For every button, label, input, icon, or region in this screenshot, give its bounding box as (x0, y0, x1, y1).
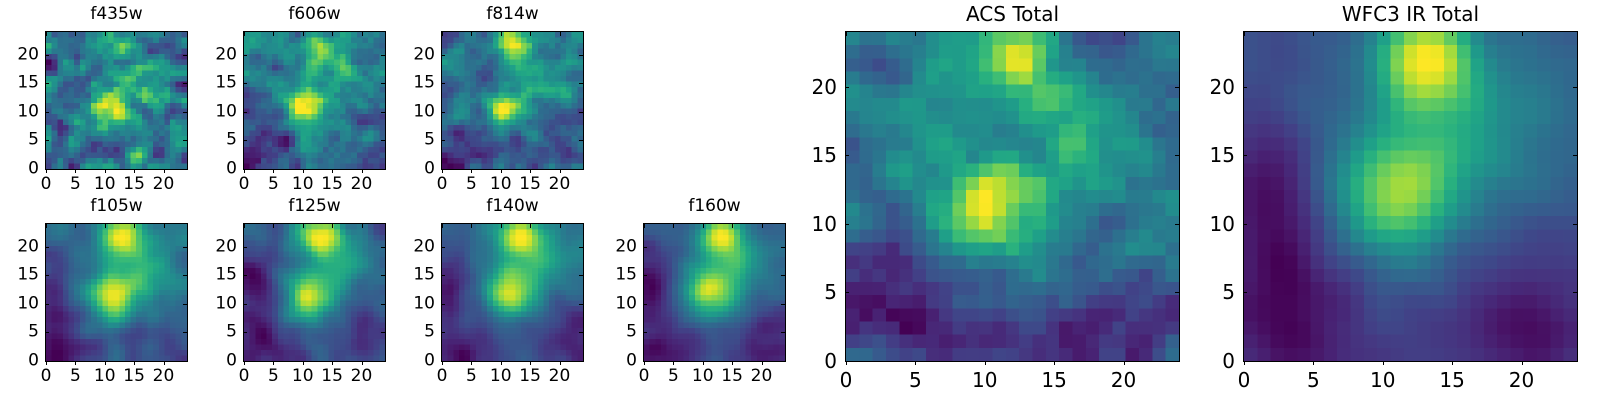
y-tick-mark (45, 361, 49, 362)
heatmap-image (442, 224, 583, 361)
x-tick-mark (362, 361, 363, 365)
y-tick-label: 5 (1, 132, 39, 149)
y-tick-label: 20 (793, 77, 837, 97)
x-tick-label: 20 (153, 368, 175, 385)
x-tick-label: 10 (490, 176, 512, 193)
x-tick-mark (46, 169, 47, 173)
y-tick-mark-right (183, 55, 187, 56)
x-tick-mark-top (164, 224, 165, 228)
heatmap-image (244, 224, 385, 361)
y-tick-mark (845, 155, 849, 156)
y-tick-mark (45, 332, 49, 333)
x-tick-label: 10 (490, 368, 512, 385)
x-tick-mark (134, 169, 135, 173)
x-tick-mark (1054, 361, 1055, 365)
y-tick-mark-right (1573, 87, 1577, 88)
y-tick-label: 0 (599, 353, 637, 370)
y-tick-label: 20 (199, 238, 237, 255)
panel-f606w: f606w0510152005101520 (0, 0, 1600, 400)
x-tick-mark-top (303, 224, 304, 228)
y-tick-mark (643, 247, 647, 248)
y-tick-mark (441, 304, 445, 305)
x-tick-mark-top (303, 32, 304, 36)
x-tick-mark-top (1313, 32, 1314, 36)
y-tick-mark (643, 361, 647, 362)
y-tick-label: 10 (599, 295, 637, 312)
x-tick-label: 5 (268, 176, 279, 193)
y-tick-mark-right (381, 304, 385, 305)
y-tick-mark (441, 55, 445, 56)
y-tick-label: 5 (199, 132, 237, 149)
x-tick-mark-top (762, 224, 763, 228)
y-tick-label: 5 (199, 324, 237, 341)
x-tick-mark-top (273, 224, 274, 228)
x-tick-label: 15 (519, 176, 541, 193)
y-tick-mark-right (579, 169, 583, 170)
panel-title: f606w (243, 6, 386, 23)
x-tick-mark-top (1452, 32, 1453, 36)
x-tick-label: 5 (466, 176, 477, 193)
y-tick-label: 0 (1, 161, 39, 178)
x-tick-mark (762, 361, 763, 365)
y-tick-label: 0 (793, 351, 837, 371)
y-tick-label: 0 (1191, 351, 1235, 371)
y-tick-label: 20 (397, 46, 435, 63)
heatmap-axes (243, 223, 386, 362)
heatmap-image (846, 32, 1179, 361)
x-tick-mark-top (332, 224, 333, 228)
x-tick-mark-top (164, 32, 165, 36)
panel-title: f140w (441, 198, 584, 215)
x-tick-label: 10 (292, 368, 314, 385)
x-tick-label: 5 (70, 176, 81, 193)
y-tick-label: 20 (397, 238, 435, 255)
y-tick-label: 5 (599, 324, 637, 341)
y-tick-label: 15 (1191, 145, 1235, 165)
y-tick-mark-right (1175, 361, 1179, 362)
y-tick-label: 15 (793, 145, 837, 165)
y-tick-mark (441, 83, 445, 84)
y-tick-mark-right (579, 55, 583, 56)
heatmap-image (442, 32, 583, 169)
x-tick-mark-top (46, 32, 47, 36)
x-tick-label: 0 (840, 370, 853, 390)
x-tick-label: 10 (692, 368, 714, 385)
y-tick-mark (845, 292, 849, 293)
x-tick-label: 5 (268, 368, 279, 385)
heatmap-axes (45, 223, 188, 362)
x-tick-mark (1124, 361, 1125, 365)
x-tick-mark-top (332, 32, 333, 36)
x-tick-mark (332, 361, 333, 365)
y-tick-label: 10 (199, 103, 237, 120)
x-tick-mark-top (105, 32, 106, 36)
y-tick-mark-right (183, 332, 187, 333)
y-tick-label: 0 (199, 353, 237, 370)
x-tick-label: 15 (321, 368, 343, 385)
y-tick-mark-right (183, 83, 187, 84)
y-tick-mark-right (381, 247, 385, 248)
y-tick-mark-right (183, 247, 187, 248)
y-tick-mark-right (381, 112, 385, 113)
y-tick-label: 5 (397, 132, 435, 149)
x-tick-label: 5 (668, 368, 679, 385)
y-tick-label: 15 (1, 75, 39, 92)
heatmap-axes (441, 31, 584, 170)
y-tick-mark (45, 112, 49, 113)
x-tick-mark (560, 169, 561, 173)
y-tick-label: 10 (1191, 214, 1235, 234)
x-tick-mark (560, 361, 561, 365)
x-tick-label: 5 (909, 370, 922, 390)
y-tick-label: 10 (397, 103, 435, 120)
heatmap-axes (643, 223, 786, 362)
x-tick-mark-top (560, 224, 561, 228)
y-tick-label: 5 (397, 324, 435, 341)
y-tick-mark (845, 87, 849, 88)
y-tick-mark (45, 169, 49, 170)
y-tick-mark-right (1175, 224, 1179, 225)
y-tick-mark (243, 275, 247, 276)
x-tick-label: 10 (292, 176, 314, 193)
x-tick-label: 15 (321, 176, 343, 193)
x-tick-mark-top (471, 224, 472, 228)
x-tick-label: 20 (351, 368, 373, 385)
heatmap-image (46, 224, 187, 361)
y-tick-mark-right (781, 247, 785, 248)
x-tick-label: 0 (239, 176, 250, 193)
y-tick-mark (441, 247, 445, 248)
y-tick-label: 15 (199, 75, 237, 92)
y-tick-mark-right (183, 169, 187, 170)
y-tick-label: 10 (199, 295, 237, 312)
heatmap-image (244, 32, 385, 169)
y-tick-label: 0 (199, 161, 237, 178)
y-tick-mark-right (579, 112, 583, 113)
heatmap-image (644, 224, 785, 361)
x-tick-mark-top (703, 224, 704, 228)
x-tick-label: 0 (41, 368, 52, 385)
x-tick-mark (1452, 361, 1453, 365)
x-tick-mark-top (46, 224, 47, 228)
x-tick-label: 20 (351, 176, 373, 193)
x-tick-label: 20 (549, 176, 571, 193)
x-tick-mark (46, 361, 47, 365)
panel-f160w: f160w0510152005101520 (0, 0, 1600, 400)
y-tick-mark-right (579, 304, 583, 305)
panel-f814w: f814w0510152005101520 (0, 0, 1600, 400)
x-tick-label: 10 (94, 368, 116, 385)
figure-canvas: f435w0510152005101520f606w05101520051015… (0, 0, 1600, 400)
x-tick-label: 15 (123, 176, 145, 193)
y-tick-mark (243, 247, 247, 248)
x-tick-mark (273, 361, 274, 365)
x-tick-mark (332, 169, 333, 173)
heatmap-axes (845, 31, 1180, 362)
y-tick-mark (441, 112, 445, 113)
x-tick-mark-top (846, 32, 847, 36)
x-tick-mark-top (530, 224, 531, 228)
x-tick-mark-top (1522, 32, 1523, 36)
y-tick-mark (643, 275, 647, 276)
x-tick-mark (1522, 361, 1523, 365)
x-tick-mark-top (915, 32, 916, 36)
x-tick-mark (164, 169, 165, 173)
y-tick-label: 20 (599, 238, 637, 255)
y-tick-label: 15 (397, 75, 435, 92)
y-tick-mark (45, 247, 49, 248)
y-tick-mark-right (579, 361, 583, 362)
y-tick-label: 10 (1, 103, 39, 120)
x-tick-label: 20 (1509, 370, 1534, 390)
y-tick-mark-right (1573, 361, 1577, 362)
y-tick-mark (441, 140, 445, 141)
y-tick-mark-right (781, 304, 785, 305)
x-tick-mark-top (244, 32, 245, 36)
y-tick-mark (1243, 87, 1247, 88)
x-tick-mark-top (673, 224, 674, 228)
x-tick-mark (244, 361, 245, 365)
x-tick-mark-top (644, 224, 645, 228)
y-tick-mark-right (1573, 292, 1577, 293)
x-tick-mark-top (105, 224, 106, 228)
x-tick-label: 20 (1111, 370, 1136, 390)
x-tick-mark-top (134, 224, 135, 228)
x-tick-mark (644, 361, 645, 365)
x-tick-label: 0 (437, 176, 448, 193)
y-tick-mark (243, 55, 247, 56)
y-tick-mark-right (183, 361, 187, 362)
x-tick-mark (915, 361, 916, 365)
y-tick-mark (643, 332, 647, 333)
panel-title: f814w (441, 6, 584, 23)
x-tick-mark-top (75, 32, 76, 36)
x-tick-mark-top (471, 32, 472, 36)
x-tick-label: 5 (1307, 370, 1320, 390)
x-tick-label: 15 (1439, 370, 1464, 390)
x-tick-mark (703, 361, 704, 365)
x-tick-mark (303, 169, 304, 173)
x-tick-mark (273, 169, 274, 173)
panel-title: f125w (243, 198, 386, 215)
y-tick-mark (45, 83, 49, 84)
y-tick-label: 15 (1, 267, 39, 284)
panel-f125w: f125w0510152005101520 (0, 0, 1600, 400)
y-tick-label: 5 (1, 324, 39, 341)
y-tick-mark-right (579, 332, 583, 333)
x-tick-mark-top (362, 32, 363, 36)
panel-title: f105w (45, 198, 188, 215)
panel-f435w: f435w0510152005101520 (0, 0, 1600, 400)
y-tick-label: 0 (1, 353, 39, 370)
y-tick-mark-right (381, 332, 385, 333)
x-tick-mark (134, 361, 135, 365)
panel-title: f160w (643, 198, 786, 215)
y-tick-mark (243, 304, 247, 305)
x-tick-mark-top (442, 32, 443, 36)
x-tick-label: 0 (41, 176, 52, 193)
y-tick-mark-right (579, 275, 583, 276)
heatmap-image (46, 32, 187, 169)
x-tick-mark (1244, 361, 1245, 365)
x-tick-mark-top (1124, 32, 1125, 36)
x-tick-mark (442, 361, 443, 365)
x-tick-mark (732, 361, 733, 365)
y-tick-mark (441, 361, 445, 362)
x-tick-mark (501, 361, 502, 365)
heatmap-axes (45, 31, 188, 170)
x-tick-label: 10 (94, 176, 116, 193)
y-tick-mark (441, 275, 445, 276)
panel-f140w: f140w0510152005101520 (0, 0, 1600, 400)
x-tick-mark-top (273, 32, 274, 36)
x-tick-mark-top (985, 32, 986, 36)
y-tick-mark-right (579, 140, 583, 141)
x-tick-mark (105, 169, 106, 173)
heatmap-axes (243, 31, 386, 170)
x-tick-mark-top (244, 224, 245, 228)
x-tick-mark (471, 361, 472, 365)
y-tick-mark (45, 140, 49, 141)
y-tick-mark-right (1573, 155, 1577, 156)
y-tick-label: 20 (199, 46, 237, 63)
y-tick-mark-right (381, 361, 385, 362)
x-tick-mark (530, 361, 531, 365)
x-tick-label: 10 (1370, 370, 1395, 390)
y-tick-mark (441, 169, 445, 170)
x-tick-mark-top (1383, 32, 1384, 36)
y-tick-label: 0 (397, 353, 435, 370)
y-tick-mark-right (781, 361, 785, 362)
y-tick-mark (45, 304, 49, 305)
y-tick-mark (243, 140, 247, 141)
y-tick-mark (845, 361, 849, 362)
x-tick-label: 20 (549, 368, 571, 385)
y-tick-label: 5 (1191, 282, 1235, 302)
y-tick-mark (45, 275, 49, 276)
y-tick-mark-right (381, 140, 385, 141)
x-tick-mark-top (732, 224, 733, 228)
x-tick-label: 15 (519, 368, 541, 385)
y-tick-mark-right (579, 83, 583, 84)
x-tick-label: 20 (153, 176, 175, 193)
x-tick-mark (105, 361, 106, 365)
y-tick-mark (845, 224, 849, 225)
x-tick-mark (362, 169, 363, 173)
x-tick-mark (471, 169, 472, 173)
y-tick-label: 15 (599, 267, 637, 284)
y-tick-mark-right (381, 55, 385, 56)
y-tick-mark (243, 332, 247, 333)
x-tick-mark-top (501, 224, 502, 228)
y-tick-mark-right (1573, 224, 1577, 225)
x-tick-mark (75, 169, 76, 173)
y-tick-label: 10 (397, 295, 435, 312)
x-tick-mark (673, 361, 674, 365)
x-tick-label: 0 (1238, 370, 1251, 390)
y-tick-mark (243, 361, 247, 362)
panel-title: f435w (45, 6, 188, 23)
y-tick-mark (243, 169, 247, 170)
x-tick-label: 5 (70, 368, 81, 385)
x-tick-mark-top (134, 32, 135, 36)
panel-f105w: f105w0510152005101520 (0, 0, 1600, 400)
y-tick-mark (1243, 224, 1247, 225)
panel-acs-total: ACS Total0510152005101520 (0, 0, 1600, 400)
x-tick-mark-top (1054, 32, 1055, 36)
y-tick-label: 5 (793, 282, 837, 302)
heatmap-axes (1243, 31, 1578, 362)
y-tick-mark (441, 332, 445, 333)
x-tick-mark-top (362, 224, 363, 228)
y-tick-label: 20 (1, 238, 39, 255)
x-tick-mark (1383, 361, 1384, 365)
x-tick-mark (75, 361, 76, 365)
x-tick-mark-top (1244, 32, 1245, 36)
x-tick-label: 15 (123, 368, 145, 385)
y-tick-mark-right (381, 169, 385, 170)
x-tick-mark-top (501, 32, 502, 36)
y-tick-mark (243, 112, 247, 113)
x-tick-mark (501, 169, 502, 173)
panel-title: ACS Total (845, 4, 1180, 24)
y-tick-mark-right (183, 140, 187, 141)
y-tick-label: 10 (793, 214, 837, 234)
y-tick-mark-right (381, 275, 385, 276)
y-tick-mark-right (1175, 87, 1179, 88)
x-tick-mark-top (560, 32, 561, 36)
y-tick-mark-right (1175, 155, 1179, 156)
x-tick-mark (303, 361, 304, 365)
y-tick-mark-right (1175, 292, 1179, 293)
x-tick-mark (244, 169, 245, 173)
y-tick-mark-right (781, 332, 785, 333)
x-tick-mark (530, 169, 531, 173)
y-tick-label: 15 (397, 267, 435, 284)
heatmap-image (1244, 32, 1577, 361)
y-tick-label: 20 (1, 46, 39, 63)
y-tick-mark-right (183, 275, 187, 276)
y-tick-mark (243, 83, 247, 84)
x-tick-label: 0 (639, 368, 650, 385)
y-tick-mark-right (781, 275, 785, 276)
y-tick-mark-right (579, 247, 583, 248)
x-tick-label: 5 (466, 368, 477, 385)
x-tick-label: 15 (721, 368, 743, 385)
y-tick-mark-right (183, 304, 187, 305)
x-tick-mark-top (75, 224, 76, 228)
y-tick-mark (1243, 361, 1247, 362)
panel-wfc3-ir-total: WFC3 IR Total0510152005101520 (0, 0, 1600, 400)
heatmap-axes (441, 223, 584, 362)
y-tick-mark-right (183, 112, 187, 113)
y-tick-label: 20 (1191, 77, 1235, 97)
y-tick-mark-right (381, 83, 385, 84)
x-tick-mark-top (442, 224, 443, 228)
y-tick-mark (643, 304, 647, 305)
x-tick-mark (846, 361, 847, 365)
x-tick-mark (985, 361, 986, 365)
x-tick-mark (1313, 361, 1314, 365)
y-tick-label: 10 (1, 295, 39, 312)
y-tick-label: 15 (199, 267, 237, 284)
x-tick-mark (164, 361, 165, 365)
panel-title: WFC3 IR Total (1243, 4, 1578, 24)
x-tick-label: 0 (437, 368, 448, 385)
x-tick-mark (442, 169, 443, 173)
y-tick-mark (1243, 292, 1247, 293)
x-tick-label: 0 (239, 368, 250, 385)
